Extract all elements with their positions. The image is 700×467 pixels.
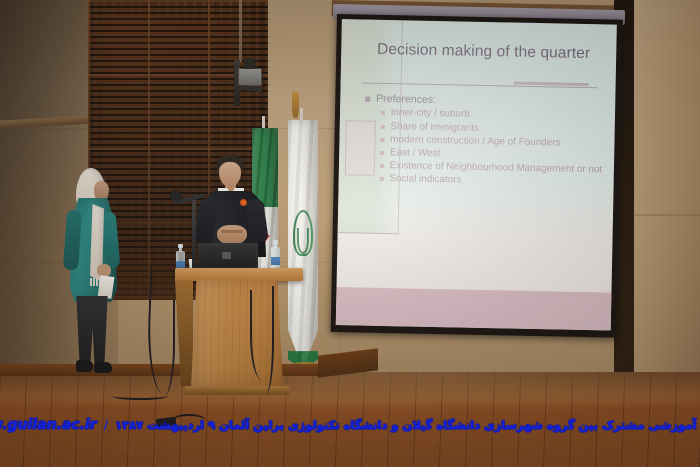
slide-bullet-text: East / West bbox=[390, 147, 441, 160]
bullet-square-icon bbox=[380, 151, 384, 155]
slide-bullet-text: Inner-city / suburb bbox=[391, 108, 470, 122]
slide-bottom-band bbox=[336, 287, 612, 331]
wall-conduit bbox=[239, 0, 242, 62]
wall-camera-icon bbox=[232, 58, 268, 98]
bullet-square-icon bbox=[380, 137, 384, 141]
slide-title: Decision making of the quarter bbox=[377, 41, 606, 63]
cable-on-floor bbox=[112, 392, 168, 400]
woman-standing bbox=[63, 168, 133, 383]
podium-base bbox=[185, 386, 289, 395]
presentation-slide: Decision making of the quarter Preferenc… bbox=[336, 19, 617, 330]
wooden-floor bbox=[0, 372, 700, 467]
bottle-cap bbox=[273, 240, 278, 244]
bullet-square-icon bbox=[381, 111, 385, 115]
bottle-label bbox=[271, 257, 280, 265]
photograph-lecture-hall: Decision making of the quarter Preferenc… bbox=[0, 0, 700, 467]
slide-bullet-text: Preferences: bbox=[376, 93, 436, 106]
laptop-logo-icon bbox=[222, 252, 231, 259]
bullet-square-icon bbox=[365, 97, 370, 102]
slide-bullet-text: Share of immigrants bbox=[390, 121, 479, 135]
slide-bullet-text: Social indicators bbox=[389, 173, 461, 187]
slide-bullet-list: Preferences: Inner-city / suburb Share o… bbox=[363, 93, 607, 190]
woman-right-boot bbox=[94, 362, 112, 373]
bullet-square-icon bbox=[380, 164, 384, 168]
cable bbox=[250, 290, 274, 380]
woman-left-boot bbox=[76, 360, 93, 372]
camera-lens bbox=[244, 58, 255, 69]
bullet-square-icon bbox=[380, 124, 384, 128]
podium-top bbox=[175, 268, 303, 281]
microphone-head-icon bbox=[170, 190, 181, 201]
projection-screen: Decision making of the quarter Preferenc… bbox=[333, 0, 625, 340]
stone-pier-right bbox=[632, 0, 700, 386]
podium bbox=[175, 268, 303, 398]
cable-on-floor bbox=[172, 414, 206, 428]
wall-lamp bbox=[292, 92, 299, 118]
screen-frame: Decision making of the quarter Preferenc… bbox=[331, 14, 623, 338]
woman-legs bbox=[75, 296, 109, 368]
bullet-square-icon bbox=[379, 177, 383, 181]
man-hands bbox=[217, 225, 247, 245]
camera-body bbox=[238, 68, 262, 86]
floor-sheen bbox=[0, 372, 700, 467]
